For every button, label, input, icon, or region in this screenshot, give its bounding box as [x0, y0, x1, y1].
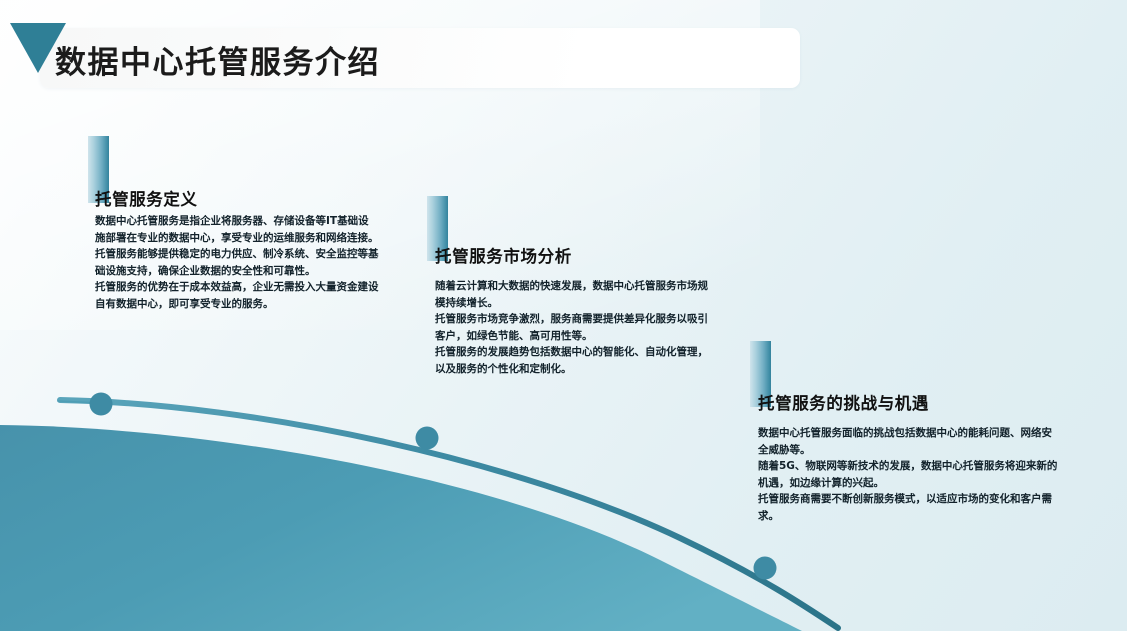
- teal-wave-fill: [0, 425, 830, 631]
- block-heading: 托管服务的挑战与机遇: [758, 390, 929, 414]
- block-paragraph: 随着云计算和大数据的快速发展，数据中心托管服务市场规模持续增长。: [435, 278, 715, 311]
- block-paragraph: 托管服务的优势在于成本效益高，企业无需投入大量资金建设自有数据中心，即可享受专业…: [95, 279, 379, 312]
- block-body: 数据中心托管服务是指企业将服务器、存储设备等IT基础设施部署在专业的数据中心，享…: [95, 213, 379, 312]
- block-heading: 托管服务定义: [95, 186, 198, 210]
- block-paragraph: 随着5G、物联网等新技术的发展，数据中心托管服务将迎来新的机遇，如边缘计算的兴起…: [758, 458, 1058, 491]
- page-title: 数据中心托管服务介绍: [55, 37, 380, 82]
- block-body: 随着云计算和大数据的快速发展，数据中心托管服务市场规模持续增长。 托管服务市场竞…: [435, 278, 715, 377]
- block-body: 数据中心托管服务面临的挑战包括数据中心的能耗问题、网络安全威胁等。 随着5G、物…: [758, 425, 1058, 524]
- block-paragraph: 托管服务商需要不断创新服务模式，以适应市场的变化和客户需求。: [758, 491, 1058, 524]
- curve-dot-1: [90, 393, 113, 416]
- slide-canvas: 数据中心托管服务介绍 托管服务定义 数据中心托管服务是指企业将服务器、存储设备等…: [0, 0, 1127, 631]
- accent-curve-tail: [58, 401, 100, 403]
- accent-curve-line: [60, 400, 838, 628]
- block-paragraph: 托管服务的发展趋势包括数据中心的智能化、自动化管理，以及服务的个性化和定制化。: [435, 344, 715, 377]
- block-heading: 托管服务市场分析: [435, 243, 572, 267]
- block-paragraph: 数据中心托管服务面临的挑战包括数据中心的能耗问题、网络安全威胁等。: [758, 425, 1058, 458]
- block-paragraph: 托管服务市场竞争激烈，服务商需要提供差异化服务以吸引客户，如绿色节能、高可用性等…: [435, 311, 715, 344]
- block-paragraph: 数据中心托管服务是指企业将服务器、存储设备等IT基础设施部署在专业的数据中心，享…: [95, 213, 379, 246]
- block-paragraph: 托管服务能够提供稳定的电力供应、制冷系统、安全监控等基础设施支持，确保企业数据的…: [95, 246, 379, 279]
- curve-dot-3: [754, 557, 777, 580]
- curve-dot-2: [416, 427, 439, 450]
